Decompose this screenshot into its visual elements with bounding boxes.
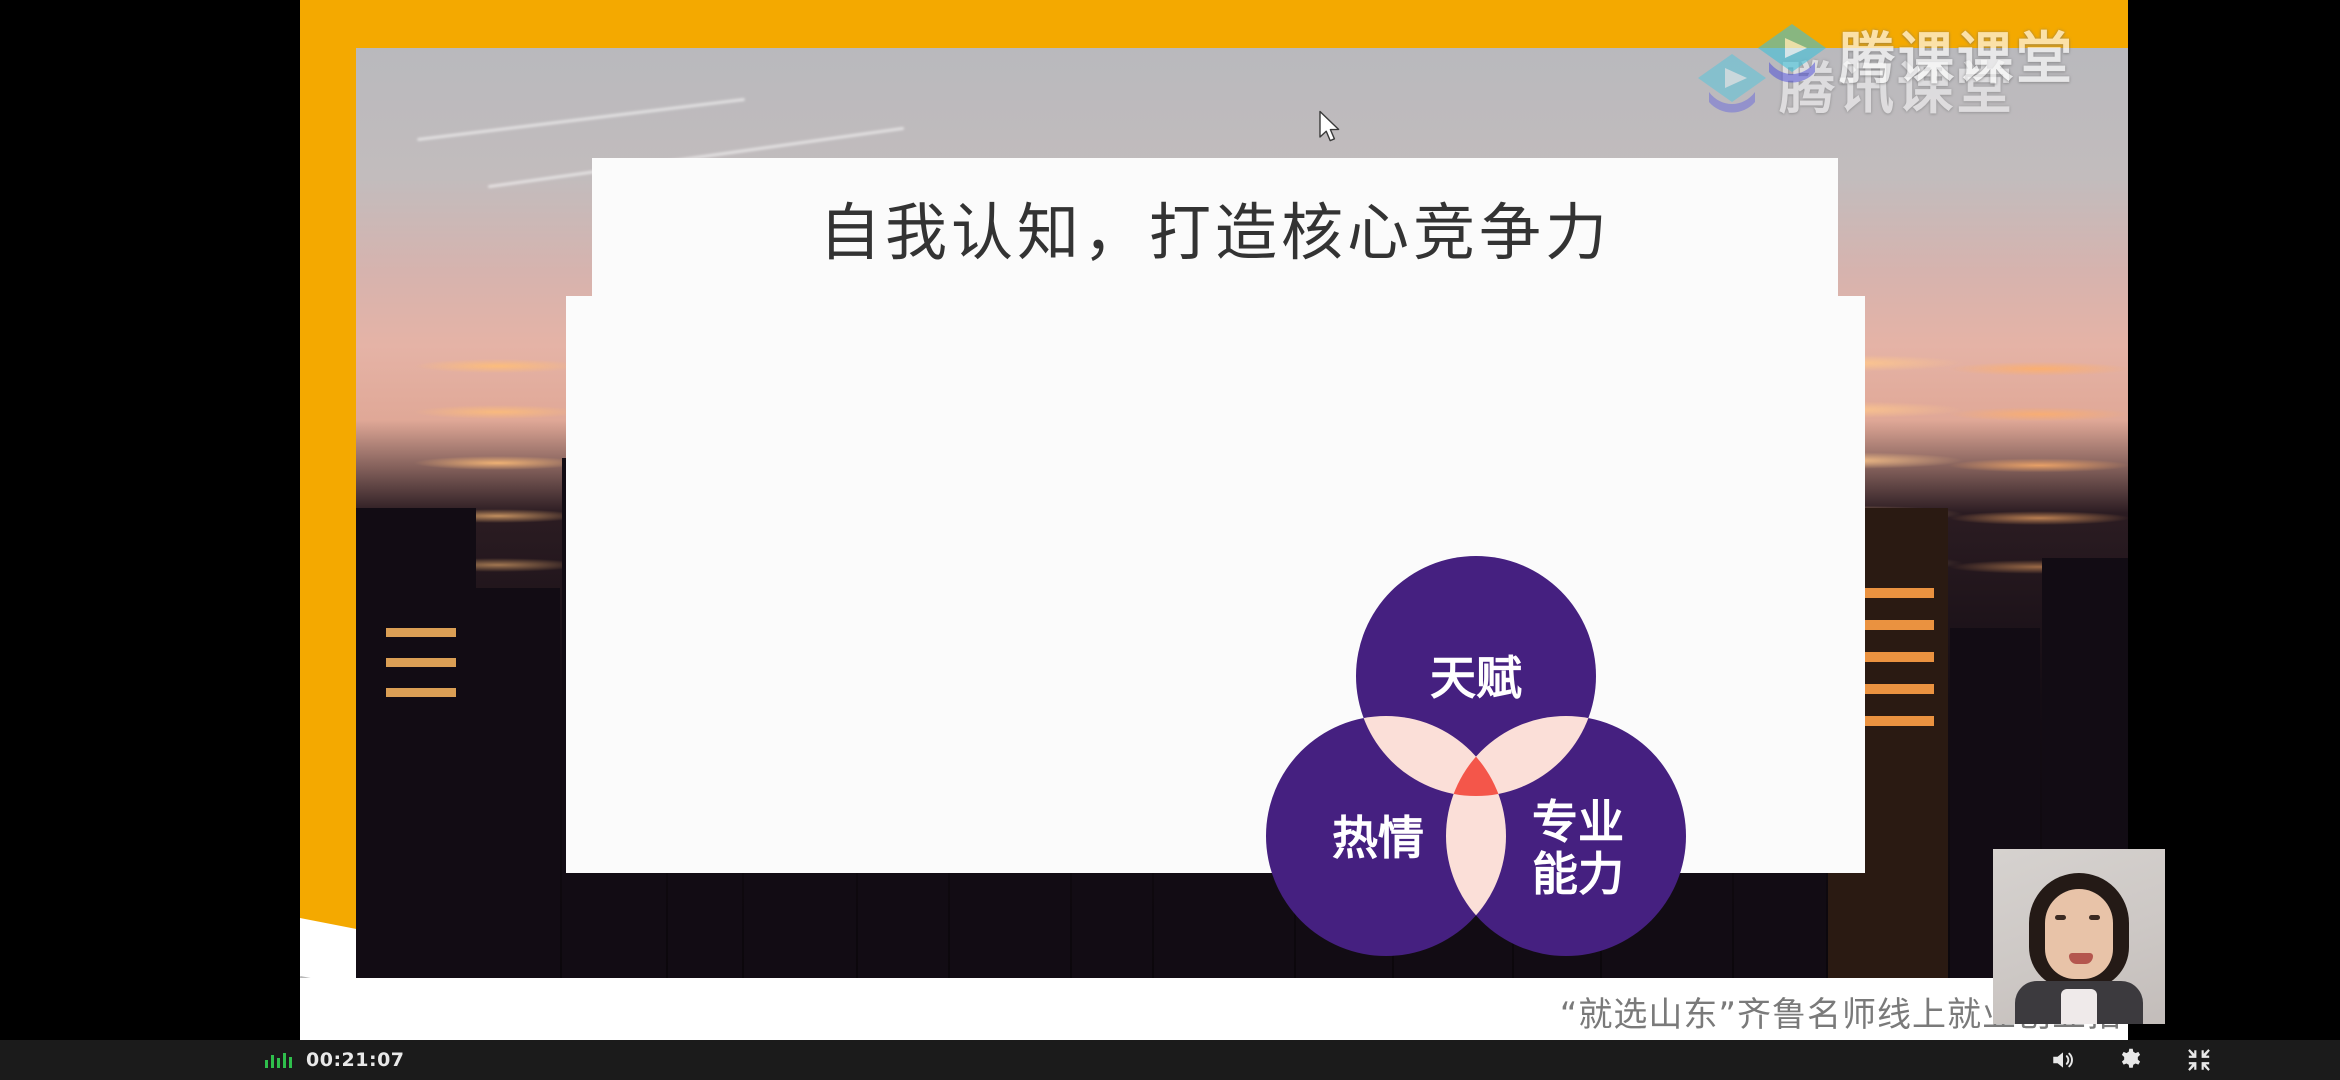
elapsed-time: 00:21:07 [306, 1049, 405, 1071]
watermark-primary: 腾课课堂 [1755, 14, 2075, 95]
tencent-classroom-logo-icon-2 [1755, 22, 1829, 88]
venn-label-skill-line1: 专业 [1532, 795, 1624, 849]
slide-body-card: 天赋 热情 专业 能力 [566, 296, 1865, 873]
settings-button[interactable] [2118, 1047, 2144, 1073]
presenter-eye-right [2089, 915, 2100, 920]
video-frame[interactable]: 自我认知，打造核心竞争力 [300, 0, 2128, 1040]
audio-level-meter-icon [265, 1052, 292, 1068]
control-bar-right [2050, 1047, 2212, 1073]
venn-label-skill-line2: 能力 [1532, 847, 1624, 901]
venn-label-talent: 天赋 [1430, 651, 1522, 705]
presenter-face [2045, 889, 2113, 979]
volume-button[interactable] [2050, 1047, 2076, 1073]
presenter-shirt [2061, 989, 2097, 1024]
control-bar-left: 00:21:07 [265, 1049, 405, 1071]
watermark-primary-text: 腾课课堂 [1839, 14, 2075, 95]
presenter-camera[interactable] [1993, 849, 2165, 1024]
mouse-cursor [1318, 110, 1344, 151]
presenter-mouth [2069, 953, 2093, 964]
venn-diagram: 天赋 热情 专业 能力 [1226, 516, 1726, 1016]
presenter-eye-left [2055, 915, 2066, 920]
page-title: 自我认知，打造核心竞争力 [592, 158, 1838, 296]
venn-label-passion: 热情 [1332, 811, 1424, 865]
exit-fullscreen-button[interactable] [2186, 1047, 2212, 1073]
video-player[interactable]: 自我认知，打造核心竞争力 [0, 0, 2340, 1080]
player-control-bar[interactable]: 00:21:07 [0, 1040, 2340, 1080]
